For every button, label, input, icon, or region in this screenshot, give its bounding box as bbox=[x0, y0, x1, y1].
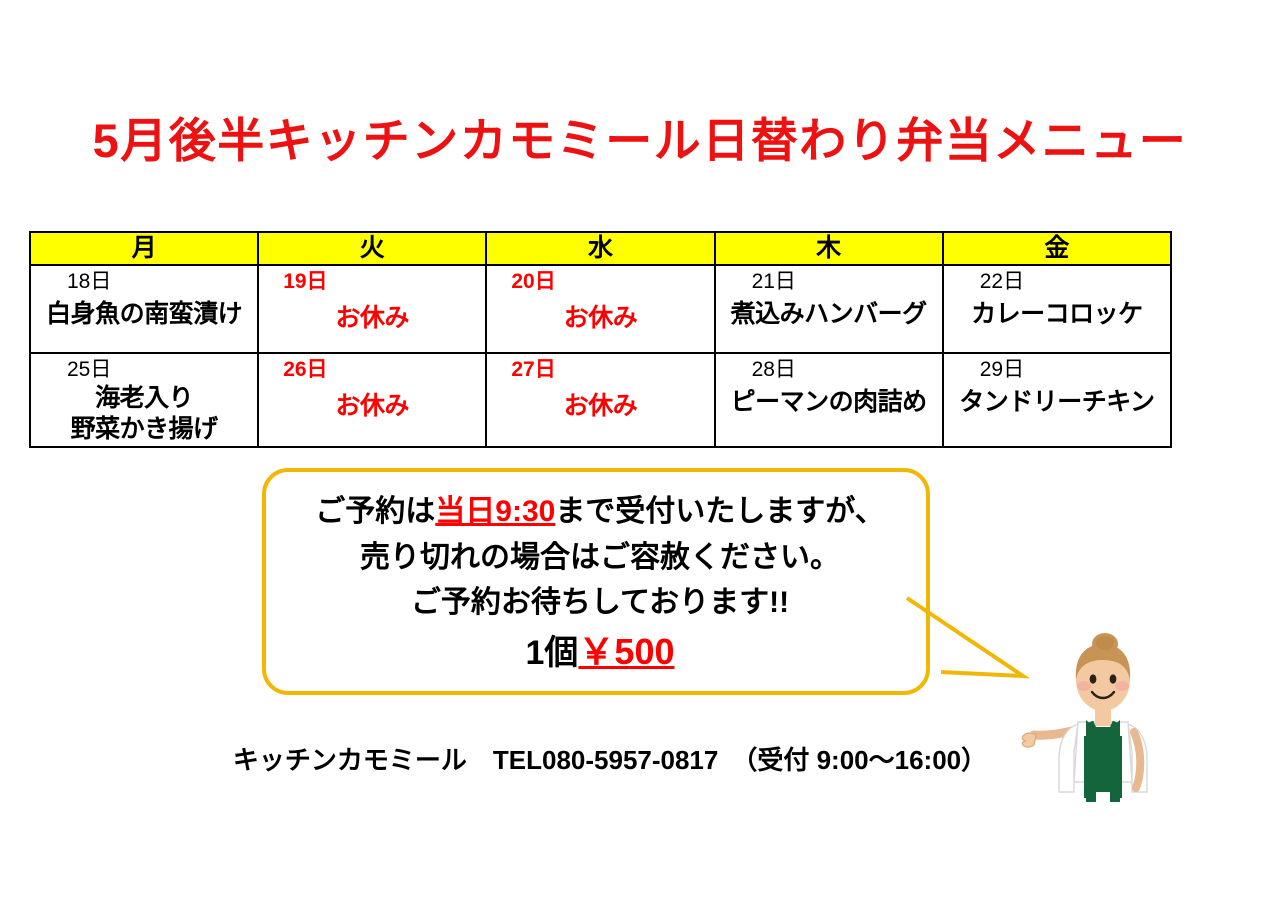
cell-dish: カレーコロッケ bbox=[944, 293, 1170, 330]
cell-dish: お休み bbox=[259, 293, 485, 334]
cell-date: 27日 bbox=[487, 354, 713, 381]
bubble-line-2: 売り切れの場合はご容赦ください。 bbox=[266, 535, 934, 581]
price-prefix: 1個 bbox=[526, 634, 579, 672]
price-value: ￥500 bbox=[578, 631, 674, 672]
cell-dish: タンドリーチキン bbox=[944, 381, 1170, 418]
cell-dish: 白身魚の南蛮漬け bbox=[31, 293, 257, 330]
cell-date: 21日 bbox=[716, 266, 942, 293]
menu-cell-18: 18日 白身魚の南蛮漬け bbox=[30, 265, 258, 353]
bubble-line1-before: ご予約は bbox=[315, 495, 435, 528]
menu-cell-29: 29日 タンドリーチキン bbox=[943, 353, 1171, 447]
weekday-header-fri: 金 bbox=[943, 232, 1171, 265]
menu-cell-22: 22日 カレーコロッケ bbox=[943, 265, 1171, 353]
table-header-row: 月 火 水 木 金 bbox=[30, 232, 1171, 265]
cell-dish: ピーマンの肉詰め bbox=[716, 381, 942, 418]
cell-date: 20日 bbox=[487, 266, 713, 293]
menu-cell-20: 20日 お休み bbox=[486, 265, 714, 353]
weekday-header-mon: 月 bbox=[30, 232, 258, 265]
cell-date: 19日 bbox=[259, 266, 485, 293]
table-row: 25日 海老入り 野菜かき揚げ 26日 お休み 27日 お休み 28日 ピーマン… bbox=[30, 353, 1171, 447]
bubble-text-block: ご予約は当日9:30まで受付いたしますが、 売り切れの場合はご容赦ください。 ご… bbox=[266, 489, 934, 677]
menu-cell-26: 26日 お休み bbox=[258, 353, 486, 447]
cell-dish: お休み bbox=[487, 293, 713, 334]
weekday-header-tue: 火 bbox=[258, 232, 486, 265]
price-line: 1個￥500 bbox=[266, 626, 934, 677]
cell-date: 25日 bbox=[31, 354, 257, 381]
bubble-line-3: ご予約お待ちしております!! bbox=[266, 580, 934, 626]
cell-date: 26日 bbox=[259, 354, 485, 381]
waving-waitress-character-icon bbox=[1016, 632, 1192, 832]
cell-dish: 海老入り 野菜かき揚げ bbox=[31, 381, 257, 446]
weekly-menu-table: 月 火 水 木 金 18日 白身魚の南蛮漬け 19日 お休み 20日 お休み 2… bbox=[29, 231, 1172, 448]
cell-date: 22日 bbox=[944, 266, 1170, 293]
cell-date: 28日 bbox=[716, 354, 942, 381]
menu-cell-25: 25日 海老入り 野菜かき揚げ bbox=[30, 353, 258, 447]
cell-date: 29日 bbox=[944, 354, 1170, 381]
bubble-line1-after: まで受付いたしますが、 bbox=[555, 495, 884, 528]
cell-dish: お休み bbox=[259, 381, 485, 422]
cell-dish: お休み bbox=[487, 381, 713, 422]
reservation-speech-bubble: ご予約は当日9:30まで受付いたしますが、 売り切れの場合はご容赦ください。 ご… bbox=[262, 468, 930, 695]
cell-date: 18日 bbox=[31, 266, 257, 293]
weekday-header-thu: 木 bbox=[715, 232, 943, 265]
bubble-line-1: ご予約は当日9:30まで受付いたしますが、 bbox=[266, 489, 934, 535]
table-row: 18日 白身魚の南蛮漬け 19日 お休み 20日 お休み 21日 煮込みハンバー… bbox=[30, 265, 1171, 353]
cell-dish: 煮込みハンバーグ bbox=[716, 293, 942, 330]
menu-cell-19: 19日 お休み bbox=[258, 265, 486, 353]
menu-cell-28: 28日 ピーマンの肉詰め bbox=[715, 353, 943, 447]
page-title: 5月後半キッチンカモミール日替わり弁当メニュー bbox=[0, 116, 1280, 165]
reservation-deadline: 当日9:30 bbox=[435, 495, 555, 528]
menu-cell-27: 27日 お休み bbox=[486, 353, 714, 447]
weekday-header-wed: 水 bbox=[486, 232, 714, 265]
menu-cell-21: 21日 煮込みハンバーグ bbox=[715, 265, 943, 353]
